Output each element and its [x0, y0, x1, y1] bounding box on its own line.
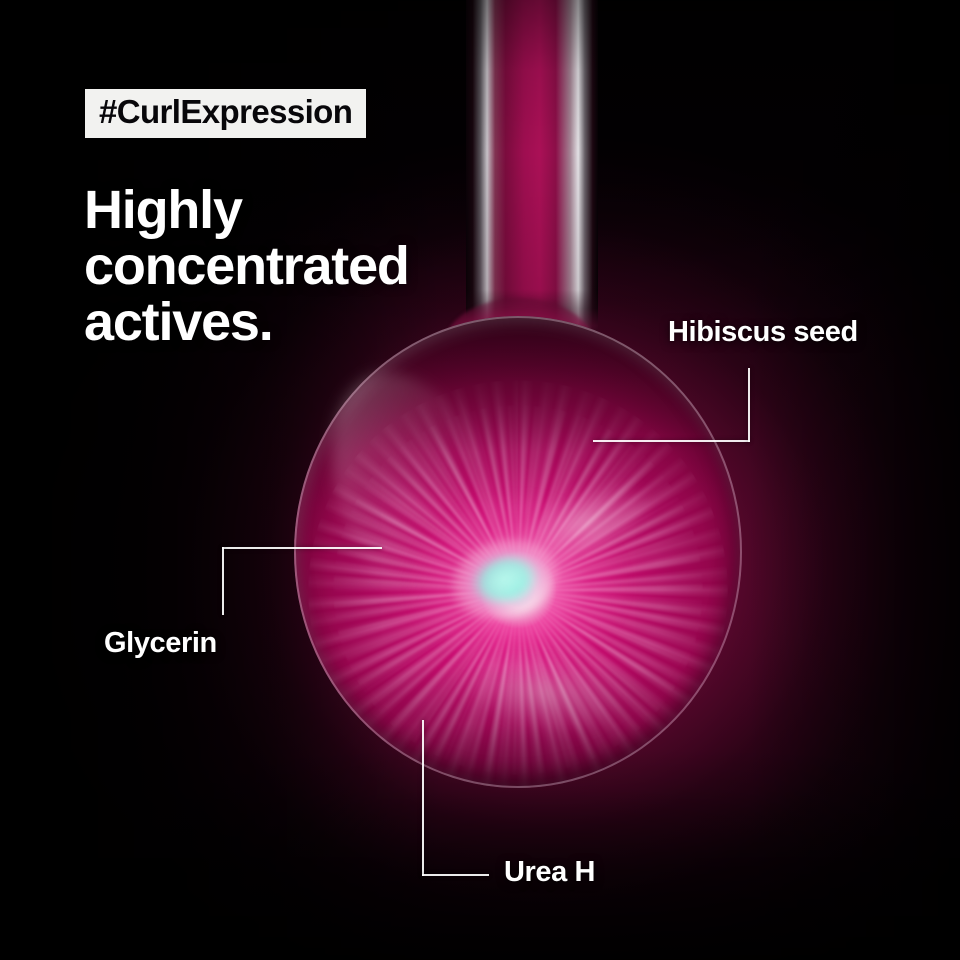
headline-line-1: Highly: [84, 182, 409, 238]
hashtag-badge: #CurlExpression: [85, 89, 366, 138]
tube-shading: [466, 0, 598, 336]
promo-image-canvas: #CurlExpression Highly concentrated acti…: [0, 0, 960, 960]
sphere-edge-shading: [294, 316, 742, 788]
callout-label-glycerin: Glycerin: [104, 627, 217, 660]
glass-dropper-tube: [466, 0, 598, 336]
callout-label-urea-h: Urea H: [504, 856, 595, 889]
serum-sphere: [288, 298, 750, 798]
page-title: Highly concentrated actives.: [84, 182, 409, 350]
headline-line-3: actives.: [84, 294, 409, 350]
sphere-liquid: [294, 316, 742, 788]
headline-line-2: concentrated: [84, 238, 409, 294]
callout-label-hibiscus-seed: Hibiscus seed: [668, 316, 858, 349]
